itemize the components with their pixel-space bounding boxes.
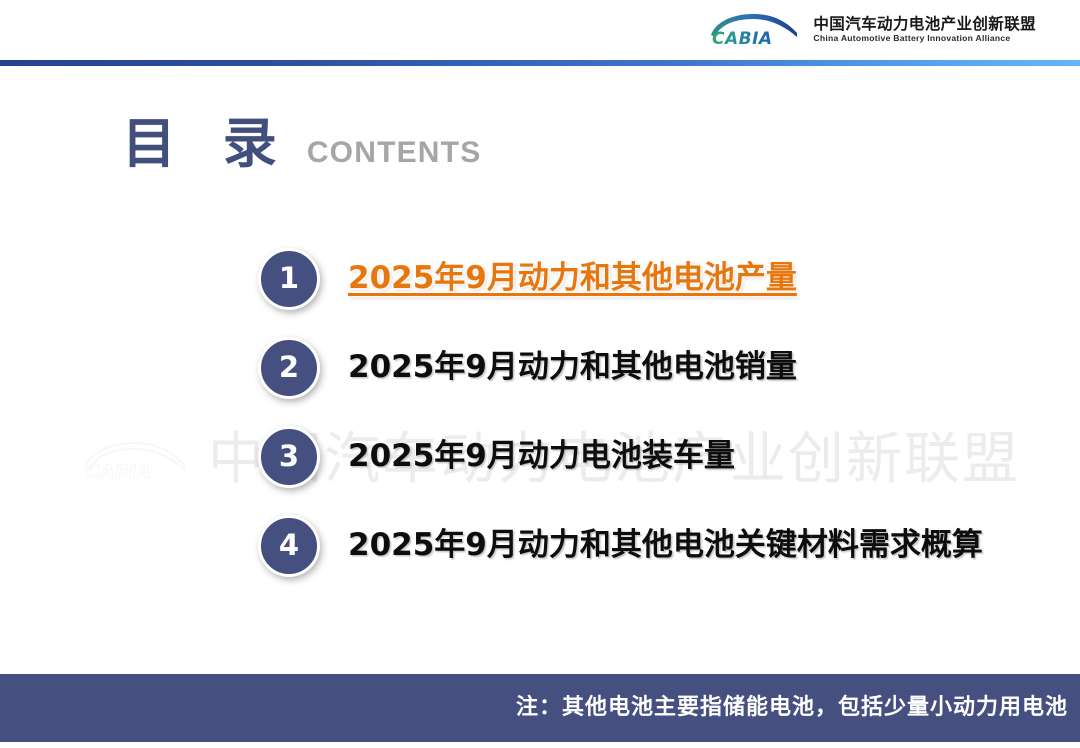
brand-block: CABIA 中国汽车动力电池产业创新联盟 China Automotive Ba… (705, 11, 1036, 49)
page-title: 目 录 CONTENTS (122, 117, 481, 171)
footer-note-bar: 注：其他电池主要指储能电池，包括少量小动力用电池 (0, 674, 1080, 742)
contents-number-3: 3 (279, 442, 299, 471)
contents-item-3[interactable]: 3 2025年9月动力电池装车量 (258, 412, 1058, 501)
contents-number-2: 2 (279, 353, 299, 382)
contents-number-badge-3: 3 (258, 426, 320, 488)
contents-number-badge-1: 1 (258, 248, 320, 310)
contents-list: 1 2025年9月动力和其他电池产量 2 2025年9月动力和其他电池销量 3 … (258, 234, 1058, 590)
footer-bottom-strip (0, 742, 1080, 748)
contents-label-4[interactable]: 2025年9月动力和其他电池关键材料需求概算 (348, 526, 983, 565)
footer-note-text: 注：其他电池主要指储能电池，包括少量小动力用电池 (516, 697, 1068, 719)
contents-number-4: 4 (279, 531, 299, 560)
contents-number-badge-4: 4 (258, 515, 320, 577)
cabia-car-logo-icon: CABIA (705, 11, 801, 49)
slide-header: CABIA 中国汽车动力电池产业创新联盟 China Automotive Ba… (0, 0, 1080, 60)
contents-item-2[interactable]: 2 2025年9月动力和其他电池销量 (258, 323, 1058, 412)
cabia-car-logo-watermark-icon: CABIA (78, 438, 190, 482)
svg-text:CABIA: CABIA (712, 29, 773, 49)
contents-number-1: 1 (279, 264, 299, 293)
contents-label-1[interactable]: 2025年9月动力和其他电池产量 (348, 259, 797, 298)
contents-label-2[interactable]: 2025年9月动力和其他电池销量 (348, 348, 797, 387)
svg-text:CABIA: CABIA (86, 461, 151, 482)
page-title-en: CONTENTS (307, 138, 482, 168)
org-name-cn: 中国汽车动力电池产业创新联盟 (813, 16, 1036, 34)
contents-number-badge-2: 2 (258, 337, 320, 399)
page-title-cn: 目 录 (122, 117, 291, 171)
contents-item-1[interactable]: 1 2025年9月动力和其他电池产量 (258, 234, 1058, 323)
org-name-en: China Automotive Battery Innovation Alli… (813, 34, 1036, 44)
brand-names: 中国汽车动力电池产业创新联盟 China Automotive Battery … (813, 16, 1036, 45)
header-divider-rule (0, 60, 1080, 66)
contents-item-4[interactable]: 4 2025年9月动力和其他电池关键材料需求概算 (258, 501, 1058, 590)
contents-label-3[interactable]: 2025年9月动力电池装车量 (348, 437, 735, 476)
slide-contents: CABIA 中国汽车动力电池产业创新联盟 China Automotive Ba… (0, 0, 1080, 748)
